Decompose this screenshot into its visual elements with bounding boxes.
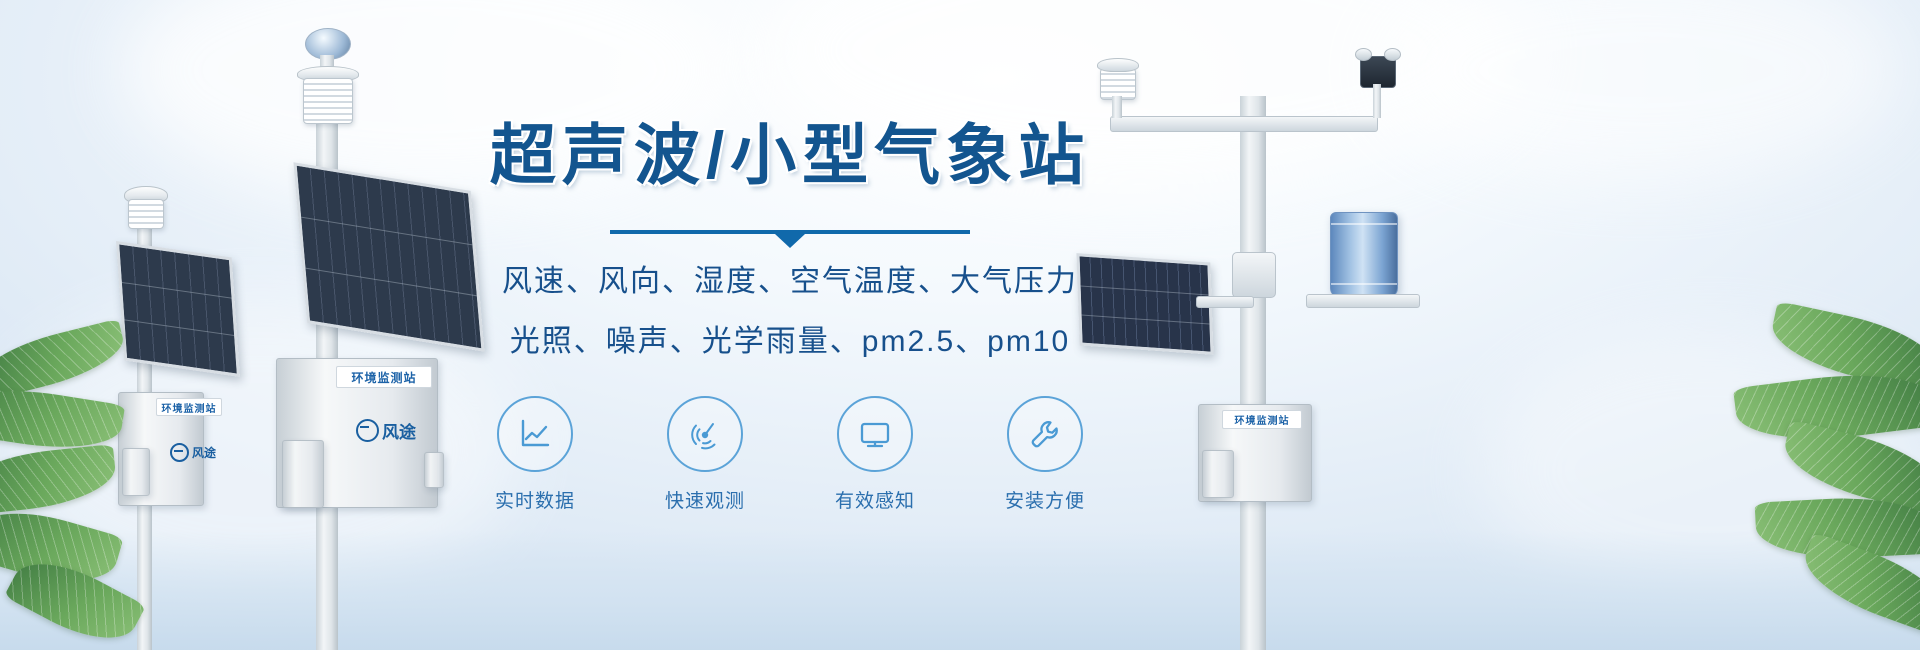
anemometer-cup-icon	[1355, 48, 1372, 61]
brand-text: 风途	[382, 418, 416, 443]
cabinet-nameplate: 环境监测站	[336, 366, 432, 388]
subtitle-line-1: 风速、风向、湿度、空气温度、大气压力	[440, 256, 1140, 300]
brand-mark-icon	[170, 443, 189, 462]
station-mast	[1240, 96, 1266, 650]
cross-arm	[1110, 116, 1378, 132]
anemometer-cup-icon	[1384, 48, 1401, 61]
subtitle-line-2: 光照、噪声、光学雨量、pm2.5、pm10	[440, 316, 1140, 360]
feature-item-realtime-data[interactable]: 实时数据	[475, 396, 595, 513]
page-title: 超声波/小型气象站	[440, 96, 1140, 188]
feature-list: 实时数据 快速观测	[440, 396, 1140, 513]
radar-signal-icon	[667, 396, 743, 472]
panel-support-arm	[1196, 296, 1254, 308]
brand-logo: 风途	[170, 443, 216, 462]
sensor-stem	[1373, 84, 1381, 118]
cabinet-nameplate: 环境监测站	[156, 398, 222, 416]
product-banner: 环境监测站 风途 环境监测站 风途 超声波/小型气象站 风速、风向、湿度、空气温…	[0, 0, 1920, 650]
solar-panel	[1076, 253, 1213, 355]
cabinet-side-panel	[282, 440, 324, 508]
mast-joint	[1232, 252, 1276, 298]
radiation-shield-icon	[128, 199, 164, 229]
cloud-wash	[1380, 0, 1900, 180]
brand-logo: 风途	[356, 418, 416, 443]
sensor-cap-icon	[1097, 58, 1139, 72]
sensor-stem	[1112, 96, 1122, 118]
gauge-support-arm	[1306, 294, 1420, 308]
rain-gauge	[1330, 212, 1398, 298]
cabinet-side-panel	[122, 448, 150, 496]
line-chart-icon	[497, 396, 573, 472]
brand-mark-icon	[356, 419, 379, 442]
title-divider	[610, 230, 970, 234]
feature-item-effective-sensing[interactable]: 有效感知	[815, 396, 935, 513]
brand-text: 风途	[192, 444, 216, 461]
feature-label: 实时数据	[475, 486, 595, 513]
cabinet-side-panel	[1202, 450, 1234, 498]
feature-item-fast-observation[interactable]: 快速观测	[645, 396, 765, 513]
banner-text-block: 超声波/小型气象站 风速、风向、湿度、空气温度、大气压力 光照、噪声、光学雨量、…	[440, 96, 1140, 566]
feature-label: 安装方便	[985, 486, 1105, 513]
feature-label: 快速观测	[645, 486, 765, 513]
feature-item-easy-install[interactable]: 安装方便	[985, 396, 1105, 513]
cabinet-nameplate: 环境监测站	[1222, 410, 1302, 429]
radiation-shield-icon	[303, 78, 353, 124]
feature-label: 有效感知	[815, 486, 935, 513]
solar-panel	[116, 241, 240, 377]
wrench-icon	[1007, 396, 1083, 472]
monitor-icon	[837, 396, 913, 472]
